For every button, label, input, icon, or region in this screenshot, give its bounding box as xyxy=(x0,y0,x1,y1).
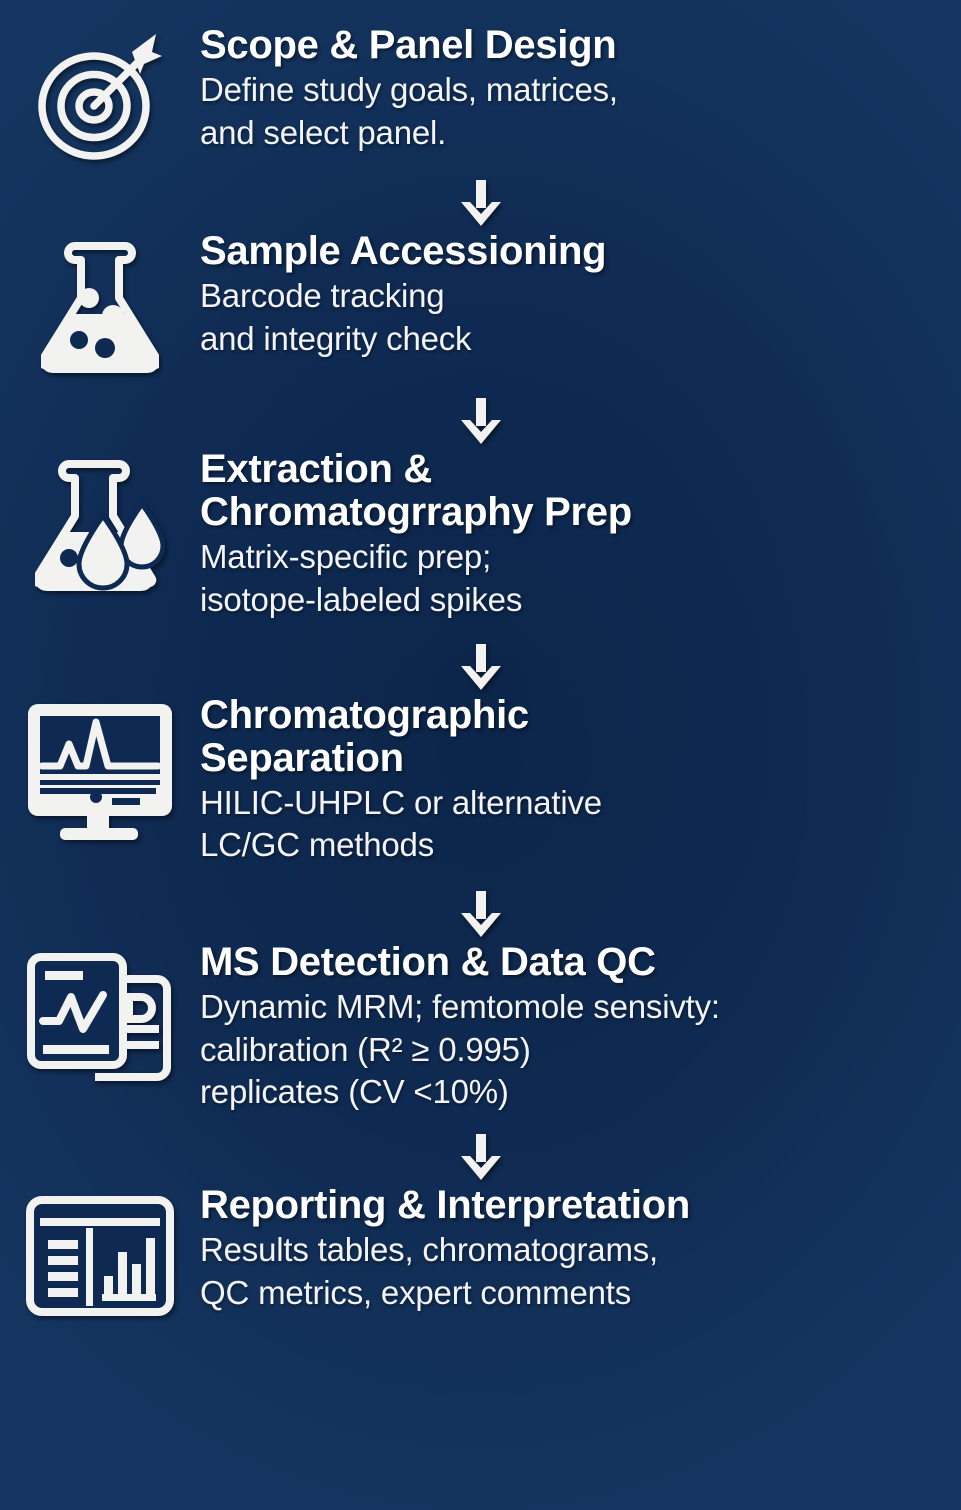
workflow-step-4: Chromatographic Separation HILIC-UHPLC o… xyxy=(0,694,961,868)
workflow-step-6: Reporting & Interpretation Results table… xyxy=(0,1184,961,1322)
flow-arrow-4 xyxy=(0,891,961,939)
step-description: HILIC-UHPLC or alternative LC/GC methods xyxy=(200,782,602,867)
flow-arrow-5 xyxy=(0,1134,961,1182)
workflow-steps-list: Scope & Panel Design Define study goals,… xyxy=(0,24,961,1322)
step-description: Matrix-specific prep; isotope-labeled sp… xyxy=(200,536,632,621)
step-title: Sample Accessioning xyxy=(200,230,606,273)
target-arrow-icon xyxy=(0,24,200,162)
down-arrow-icon xyxy=(459,1134,503,1182)
step-title: Reporting & Interpretation xyxy=(200,1184,690,1227)
step-title: Chromatographic Separation xyxy=(200,694,602,780)
flow-arrow-3 xyxy=(0,644,961,692)
down-arrow-icon xyxy=(459,180,503,228)
data-cards-chart-icon xyxy=(0,941,200,1087)
workflow-infographic: Scope & Panel Design Define study goals,… xyxy=(0,0,961,1510)
workflow-step-5: MS Detection & Data QC Dynamic MRM; femt… xyxy=(0,941,961,1114)
down-arrow-icon xyxy=(459,891,503,939)
workflow-step-3-text: Extraction & Chromatogrraphy Prep Matrix… xyxy=(200,448,656,622)
workflow-step-3: Extraction & Chromatogrraphy Prep Matrix… xyxy=(0,448,961,622)
workflow-step-4-text: Chromatographic Separation HILIC-UHPLC o… xyxy=(200,694,626,868)
workflow-step-2: Sample Accessioning Barcode tracking and… xyxy=(0,230,961,376)
step-description: Dynamic MRM; femtomole sensivty: calibra… xyxy=(200,986,720,1114)
workflow-step-5-text: MS Detection & Data QC Dynamic MRM; femt… xyxy=(200,941,744,1114)
down-arrow-icon xyxy=(459,398,503,446)
workflow-step-1: Scope & Panel Design Define study goals,… xyxy=(0,24,961,162)
step-title: Scope & Panel Design xyxy=(200,24,618,67)
down-arrow-icon xyxy=(459,644,503,692)
workflow-step-6-text: Reporting & Interpretation Results table… xyxy=(200,1184,714,1314)
workflow-step-2-text: Sample Accessioning Barcode tracking and… xyxy=(200,230,630,360)
monitor-chromatogram-icon xyxy=(0,694,200,842)
step-description: Define study goals, matrices, and select… xyxy=(200,69,618,154)
step-description: Results tables, chromatograms, QC metric… xyxy=(200,1229,690,1314)
flow-arrow-1 xyxy=(0,180,961,228)
report-dashboard-icon xyxy=(0,1184,200,1322)
step-title: Extraction & Chromatogrraphy Prep xyxy=(200,448,632,534)
flow-arrow-2 xyxy=(0,398,961,446)
step-title: MS Detection & Data QC xyxy=(200,941,720,984)
flask-liquid-icon xyxy=(0,230,200,376)
workflow-step-1-text: Scope & Panel Design Define study goals,… xyxy=(200,24,642,154)
step-description: Barcode tracking and integrity check xyxy=(200,275,606,360)
flask-droplet-icon xyxy=(0,448,200,604)
